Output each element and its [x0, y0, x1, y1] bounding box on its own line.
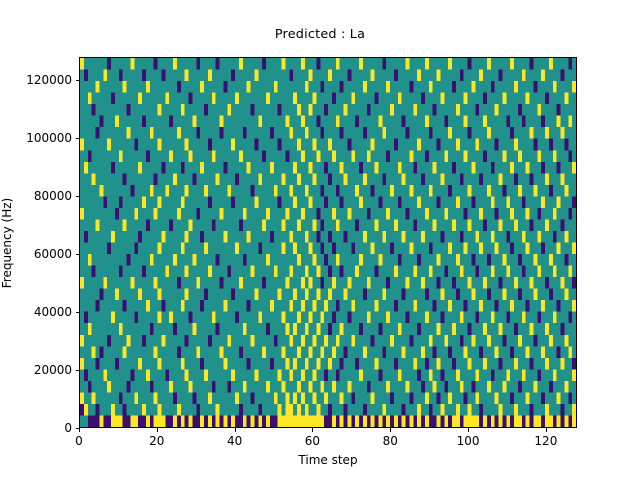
y-tick-label: 120000: [26, 73, 72, 87]
x-tick-mark: [468, 428, 469, 432]
x-tick-mark: [546, 428, 547, 432]
y-tick-label: 100000: [26, 131, 72, 145]
y-tick-mark: [76, 138, 80, 139]
x-tick-label: 20: [149, 434, 164, 448]
x-tick-label: 100: [457, 434, 480, 448]
y-tick-label: 60000: [34, 247, 72, 261]
x-tick-label: 0: [75, 434, 83, 448]
heatmap-canvas: [80, 58, 576, 427]
x-tick-mark: [312, 428, 313, 432]
x-tick-label: 40: [227, 434, 242, 448]
y-tick-label: 40000: [34, 305, 72, 319]
x-tick-mark: [390, 428, 391, 432]
x-axis-label: Time step: [79, 453, 577, 467]
x-tick-mark: [157, 428, 158, 432]
x-tick-mark: [235, 428, 236, 432]
y-tick-mark: [76, 254, 80, 255]
page-title: Predicted : La: [0, 27, 640, 42]
matplotlib-figure: Predicted : La 020406080100120 020000400…: [0, 0, 640, 480]
y-tick-mark: [76, 428, 80, 429]
x-tick-label: 80: [383, 434, 398, 448]
y-tick-mark: [76, 370, 80, 371]
y-tick-label: 80000: [34, 189, 72, 203]
y-tick-mark: [76, 196, 80, 197]
y-tick-label: 20000: [34, 363, 72, 377]
x-tick-label: 120: [534, 434, 557, 448]
y-tick-mark: [76, 80, 80, 81]
y-axis-label: Frequency (Hz): [0, 197, 14, 288]
x-tick-label: 60: [305, 434, 320, 448]
heatmap-plot-area: [79, 57, 577, 428]
y-tick-label: 0: [64, 421, 72, 435]
y-tick-mark: [76, 312, 80, 313]
x-tick-mark: [79, 428, 80, 432]
